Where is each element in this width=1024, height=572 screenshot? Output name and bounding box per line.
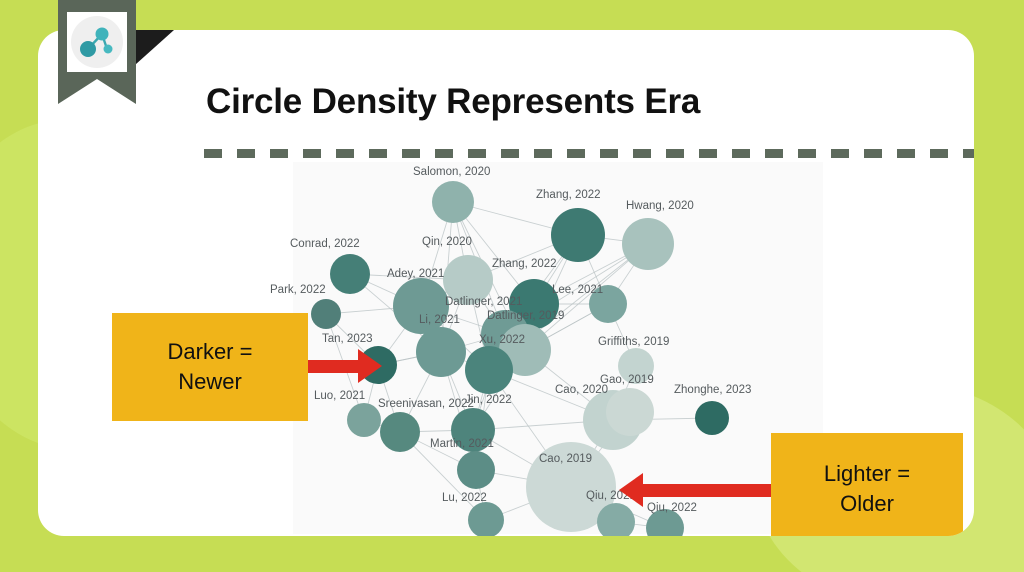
graph-node-label: Adey, 2021	[387, 268, 444, 280]
callout-darker-line1: Darker =	[168, 337, 253, 367]
graph-node-label: Luo, 2021	[314, 390, 365, 402]
graph-node-label: Lee, 2021	[552, 284, 603, 296]
page-title: Circle Density Represents Era	[206, 82, 700, 122]
graph-node-label: Lu, 2022	[442, 492, 487, 504]
graph-node-label: Tan, 2023	[322, 333, 373, 345]
graph-node-label: Datlinger, 2019	[487, 310, 564, 322]
graph-node-label: Xu, 2022	[479, 334, 525, 346]
graph-node-label: Zhonghe, 2023	[674, 384, 751, 396]
graph-node-label: Qiu, 2022	[647, 502, 697, 514]
graph-node-label: Griffiths, 2019	[598, 336, 669, 348]
graph-node-label: Conrad, 2022	[290, 238, 360, 250]
graph-node-label: Zhang, 2022	[492, 258, 557, 270]
arrow-right-icon	[306, 360, 360, 373]
graph-node-label: Zhang, 2022	[536, 189, 601, 201]
graph-node-label: Li, 2021	[419, 314, 460, 326]
graph-node-label: Gao, 2019	[600, 374, 654, 386]
graph-node-label: Hwang, 2020	[626, 200, 694, 212]
callout-lighter-line1: Lighter =	[824, 459, 910, 489]
graph-node-label: Park, 2022	[270, 284, 326, 296]
graph-node-label: Salomon, 2020	[413, 166, 490, 178]
citation-network-graph: Salomon, 2020Zhang, 2022Hwang, 2020Conra…	[293, 162, 823, 534]
graph-labels-layer: Salomon, 2020Zhang, 2022Hwang, 2020Conra…	[293, 162, 823, 534]
graph-node-label: Sreenivasan, 2022	[378, 398, 474, 410]
network-node-icon	[71, 16, 123, 68]
callout-darker-newer: Darker = Newer	[112, 313, 308, 421]
dashed-divider	[204, 149, 974, 158]
graph-node-label: Datlinger, 2021	[445, 296, 522, 308]
arrow-left-icon	[641, 484, 771, 497]
graph-node-label: Cao, 2019	[539, 453, 592, 465]
callout-darker-line2: Newer	[178, 367, 242, 397]
slide-card: Circle Density Represents Era Salomon, 2…	[38, 30, 974, 536]
graph-node-label: Jin, 2022	[465, 394, 512, 406]
brand-logo	[58, 0, 136, 110]
callout-lighter-older: Lighter = Older	[771, 433, 963, 536]
graph-node-label: Qin, 2020	[422, 236, 472, 248]
graph-node-label: Martin, 2021	[430, 438, 494, 450]
callout-lighter-line2: Older	[840, 489, 894, 519]
